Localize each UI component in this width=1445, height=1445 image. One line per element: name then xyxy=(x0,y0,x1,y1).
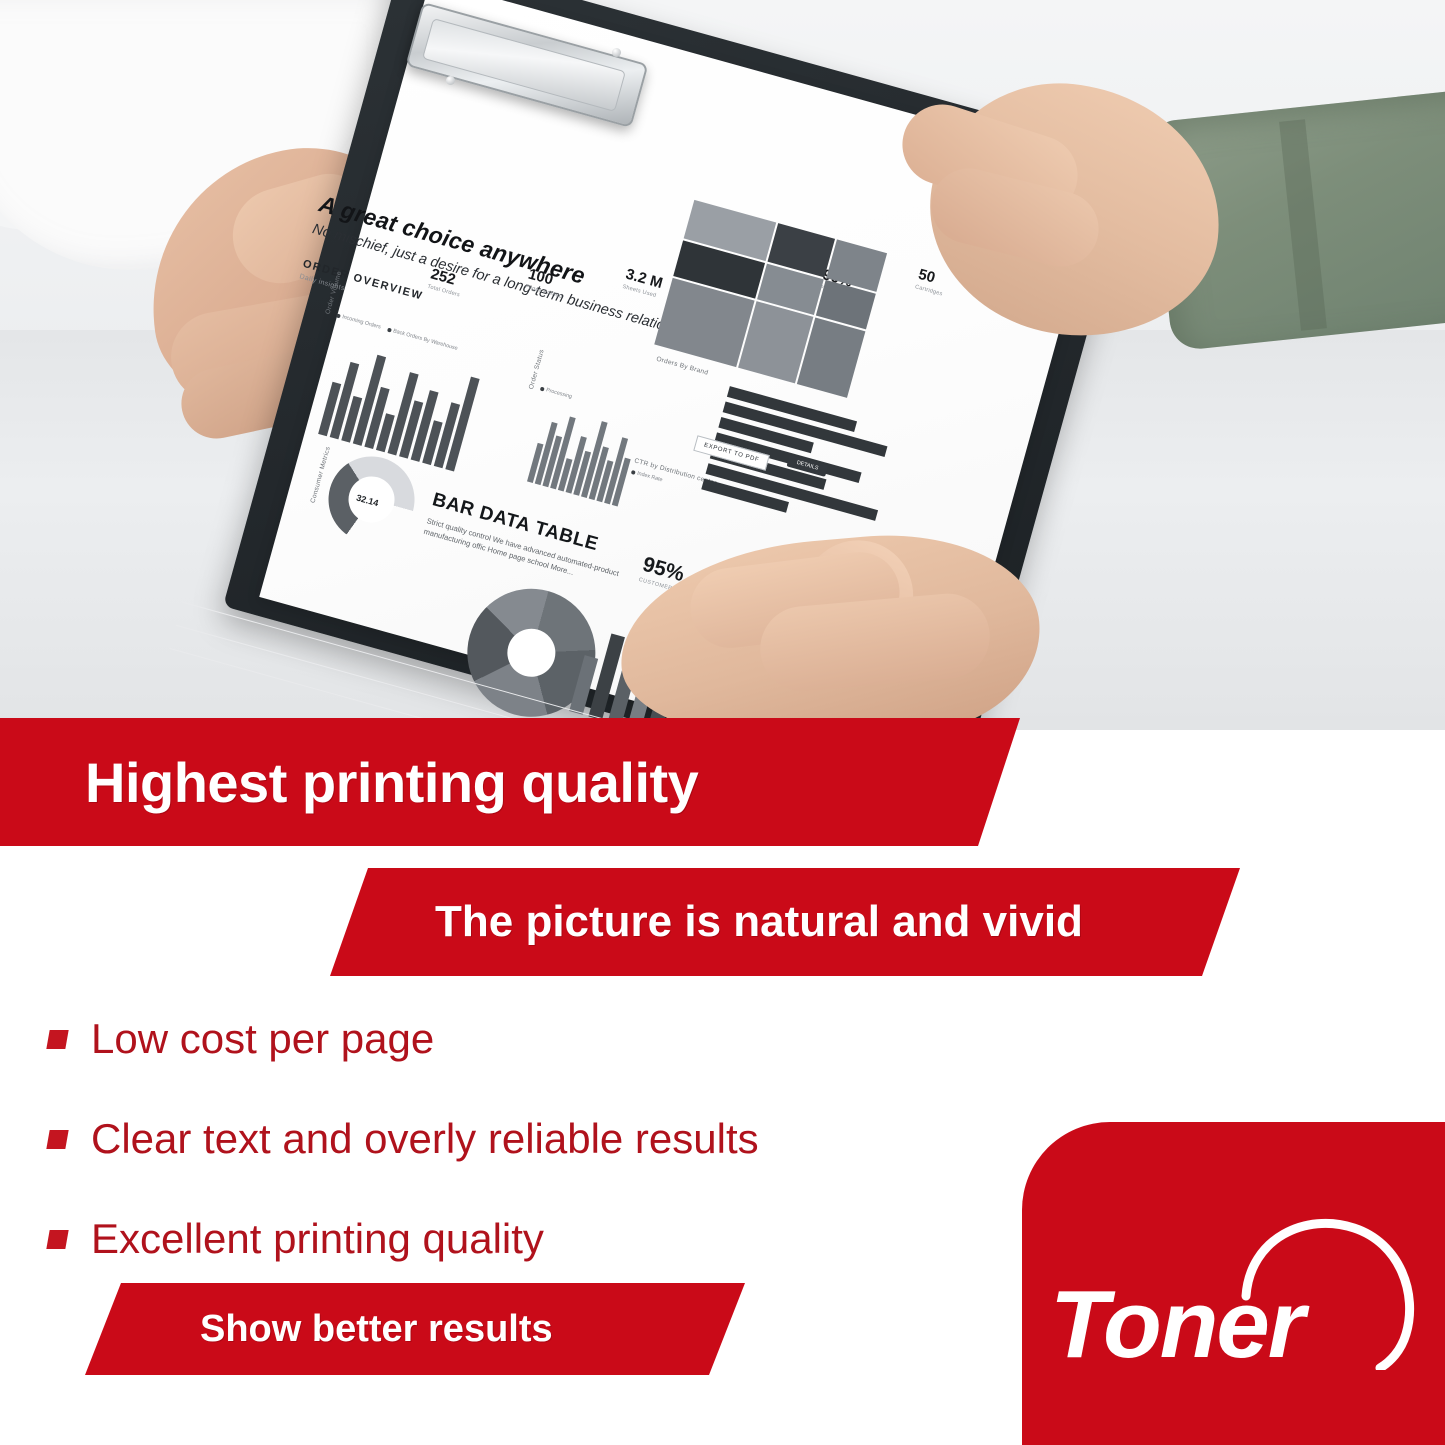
subheadline-text: The picture is natural and vivid xyxy=(435,897,1083,947)
kpi-3: 3.2 M Sheets Used xyxy=(622,267,665,300)
list-item: Excellent printing quality xyxy=(48,1215,1008,1263)
product-infographic: A great choice anywhere No mischief, jus… xyxy=(0,0,1445,1445)
headline-banner: Highest printing quality xyxy=(0,718,1020,846)
legend-dot-icon xyxy=(540,387,545,392)
clip-rivet-icon xyxy=(446,76,455,85)
feature-label: Clear text and overly reliable results xyxy=(91,1115,759,1163)
bullet-square-icon xyxy=(46,1030,68,1049)
bar-chart-order-volume xyxy=(318,332,482,472)
bullet-square-icon xyxy=(46,1230,68,1249)
product-photo: A great choice anywhere No mischief, jus… xyxy=(0,0,1445,730)
list-item: Low cost per page xyxy=(48,1015,1008,1063)
chart-label-orders-by-brand: Orders By Brand xyxy=(655,356,709,377)
subheadline-banner: The picture is natural and vivid xyxy=(330,868,1240,976)
bar-data-table-block: BAR DATA TABLE Strict quality control We… xyxy=(423,489,677,603)
legend-dot-icon xyxy=(631,470,636,475)
brand-name: Toner xyxy=(1050,1270,1303,1380)
headline-text: Highest printing quality xyxy=(85,750,698,815)
legend-dot-icon xyxy=(387,328,392,333)
bar-chart-order-status xyxy=(527,404,639,506)
feature-label: Low cost per page xyxy=(91,1015,434,1063)
list-item: Clear text and overly reliable results xyxy=(48,1115,1008,1163)
kpi-6: 50 Cartridges xyxy=(914,267,948,298)
bullet-square-icon xyxy=(46,1130,68,1149)
feature-list: Low cost per page Clear text and overly … xyxy=(48,1015,1008,1315)
footer-text: Show better results xyxy=(200,1308,553,1351)
chart-label-order-volume: Order Volume xyxy=(325,270,344,315)
legend-item-incoming: Incoming Orders xyxy=(336,313,382,331)
legend-order-status: Processing xyxy=(540,386,573,401)
legend-dot-icon xyxy=(336,313,341,318)
feature-label: Excellent printing quality xyxy=(91,1215,544,1263)
chart-label-order-status: Order Status xyxy=(528,349,546,390)
footer-banner: Show better results xyxy=(85,1283,745,1375)
clip-rivet-icon xyxy=(612,48,621,57)
legend-item-processing: Processing xyxy=(540,386,573,401)
brand-logo: Toner xyxy=(1022,1122,1445,1445)
